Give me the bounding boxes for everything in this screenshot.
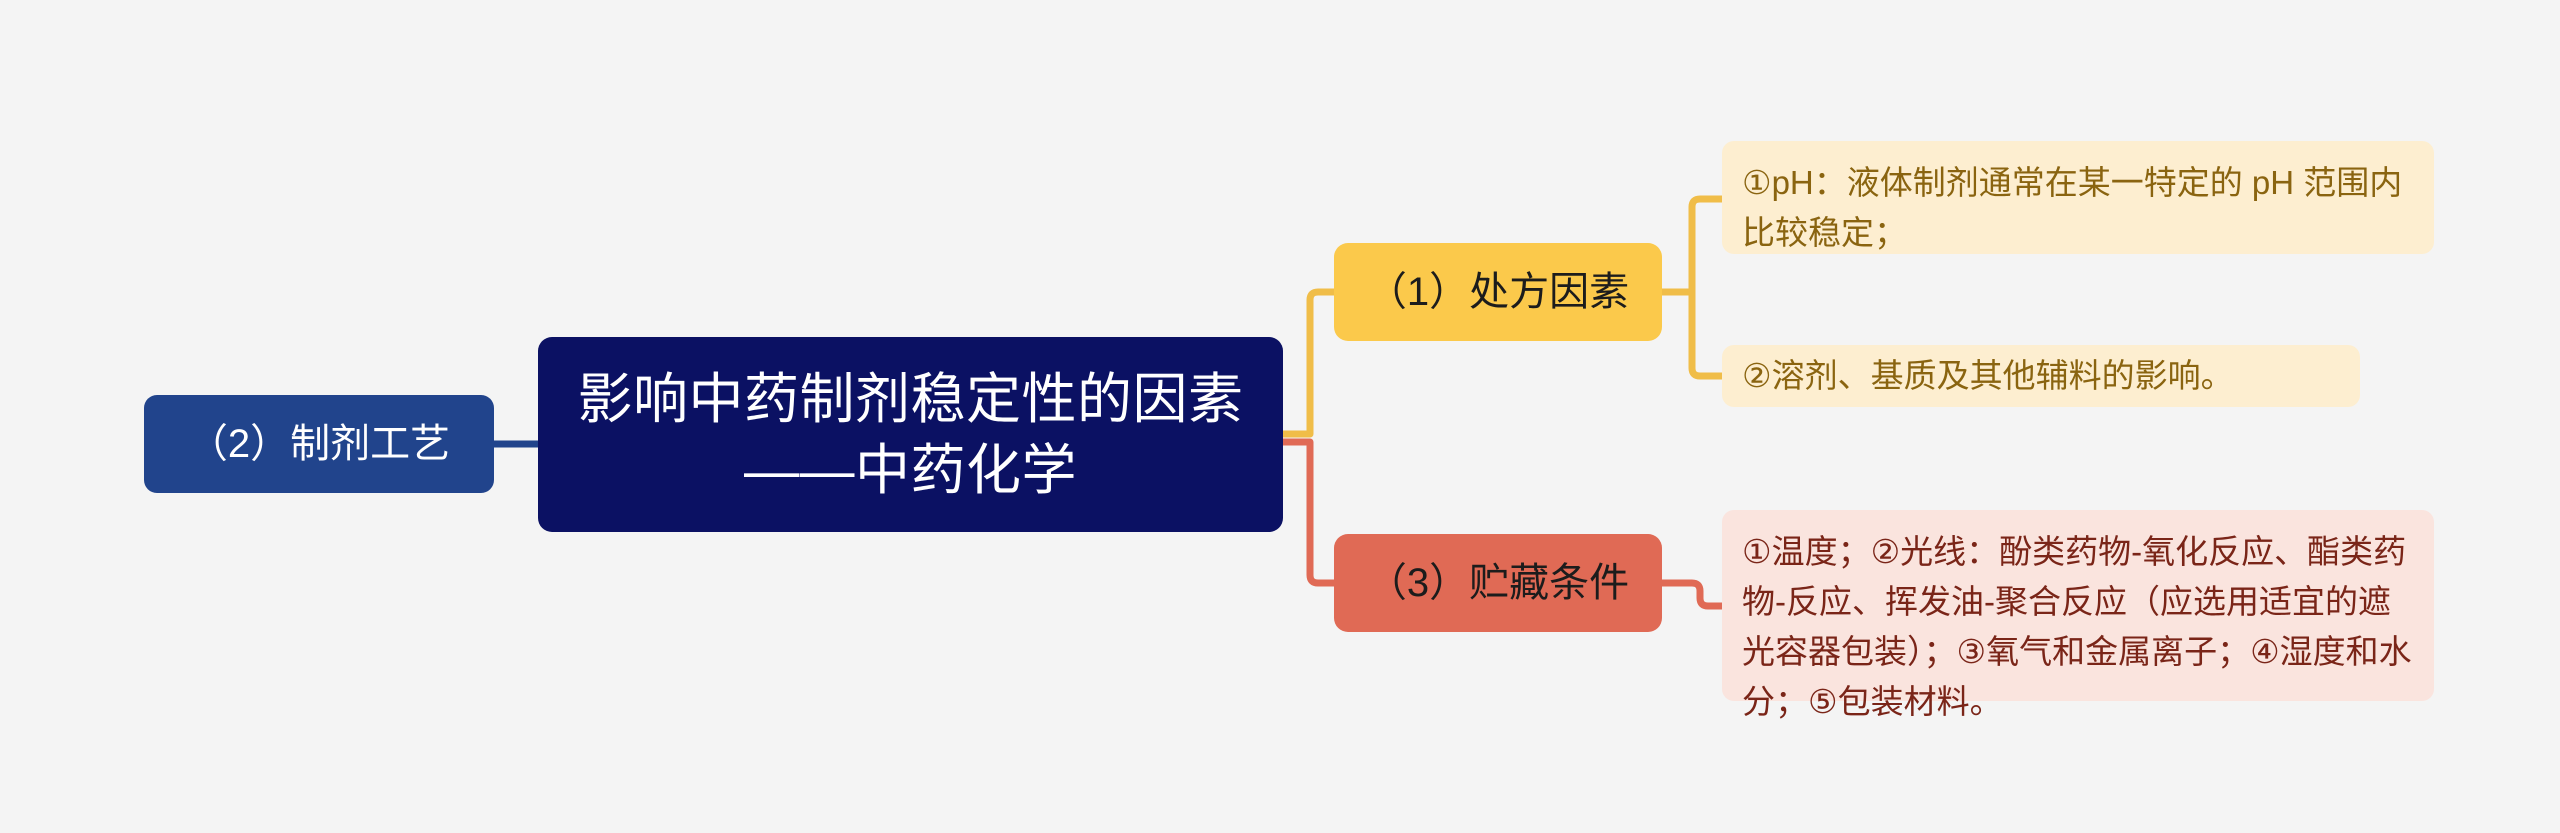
branch-node-storage-conditions[interactable]: （3）贮藏条件 [1334, 534, 1662, 632]
branch-node-preparation-process-label: （2）制剂工艺 [188, 419, 450, 469]
connector-branch-red-to-leaf-1 [1662, 583, 1722, 606]
leaf-card-solvent[interactable]: ②溶剂、基质及其他辅料的影响。 [1722, 345, 2360, 407]
connector-root-to-branch-yellow [1283, 292, 1334, 434]
branch-node-preparation-process[interactable]: （2）制剂工艺 [144, 395, 494, 493]
root-node-label: 影响中药制剂稳定性的因素——中药化学 [564, 364, 1257, 505]
leaf-card-ph-text: ①pH：液体制剂通常在某一特定的 pH 范围内比较稳定； [1742, 158, 2412, 258]
branch-node-storage-conditions-label: （3）贮藏条件 [1367, 558, 1629, 608]
branch-node-formulation-factors[interactable]: （1）处方因素 [1334, 243, 1662, 341]
connector-branch-yellow-to-leaf-2 [1692, 292, 1722, 376]
mindmap-canvas: 影响中药制剂稳定性的因素——中药化学 （2）制剂工艺 （1）处方因素 （3）贮藏… [0, 0, 2560, 833]
leaf-card-storage-details[interactable]: ①温度；②光线：酚类药物-氧化反应、酯类药物-反应、挥发油-聚合反应（应选用适宜… [1722, 510, 2434, 701]
connector-branch-yellow-to-leaf-1 [1692, 199, 1722, 292]
leaf-card-solvent-text: ②溶剂、基质及其他辅料的影响。 [1742, 351, 2234, 401]
leaf-card-ph[interactable]: ①pH：液体制剂通常在某一特定的 pH 范围内比较稳定； [1722, 141, 2434, 254]
leaf-card-storage-details-text: ①温度；②光线：酚类药物-氧化反应、酯类药物-反应、挥发油-聚合反应（应选用适宜… [1742, 527, 2412, 728]
connector-root-to-branch-red [1283, 442, 1334, 583]
branch-node-formulation-factors-label: （1）处方因素 [1367, 267, 1629, 317]
root-node[interactable]: 影响中药制剂稳定性的因素——中药化学 [538, 337, 1283, 532]
